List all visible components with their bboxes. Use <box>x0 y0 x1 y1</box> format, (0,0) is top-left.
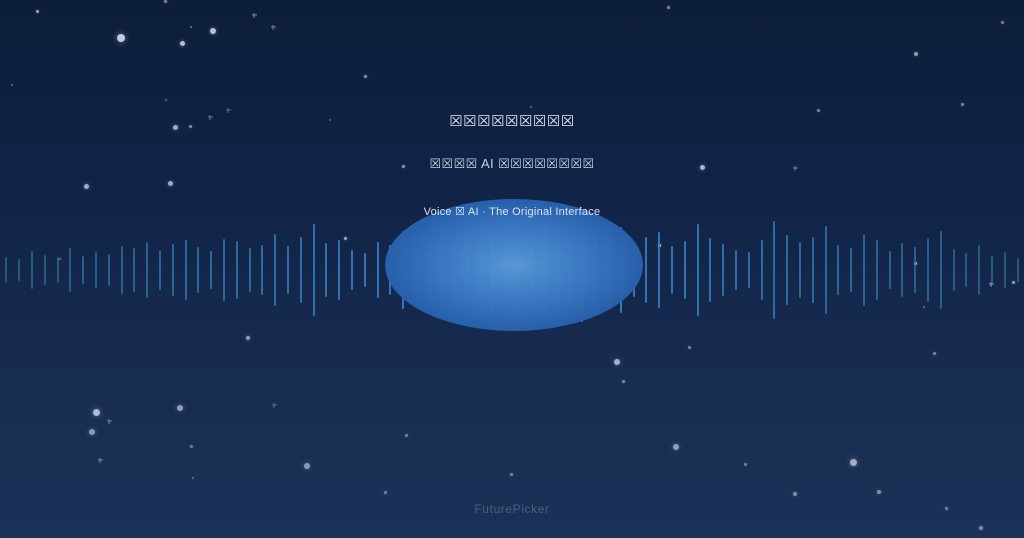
hero-text-block: ☒☒☒☒☒☒☒☒☒ ☒☒☒☒ AI ☒☒☒☒☒☒☒☒ Voice ☒ AI · … <box>0 0 1024 538</box>
hero-tagline: Voice ☒ AI · The Original Interface <box>0 205 1024 220</box>
hero-subtitle: ☒☒☒☒ AI ☒☒☒☒☒☒☒☒ <box>0 155 1024 173</box>
hero-stage: ☒☒☒☒☒☒☒☒☒ ☒☒☒☒ AI ☒☒☒☒☒☒☒☒ Voice ☒ AI · … <box>0 0 1024 538</box>
page-title: ☒☒☒☒☒☒☒☒☒ <box>0 112 1024 131</box>
brand-footer: FuturePicker <box>0 501 1024 517</box>
